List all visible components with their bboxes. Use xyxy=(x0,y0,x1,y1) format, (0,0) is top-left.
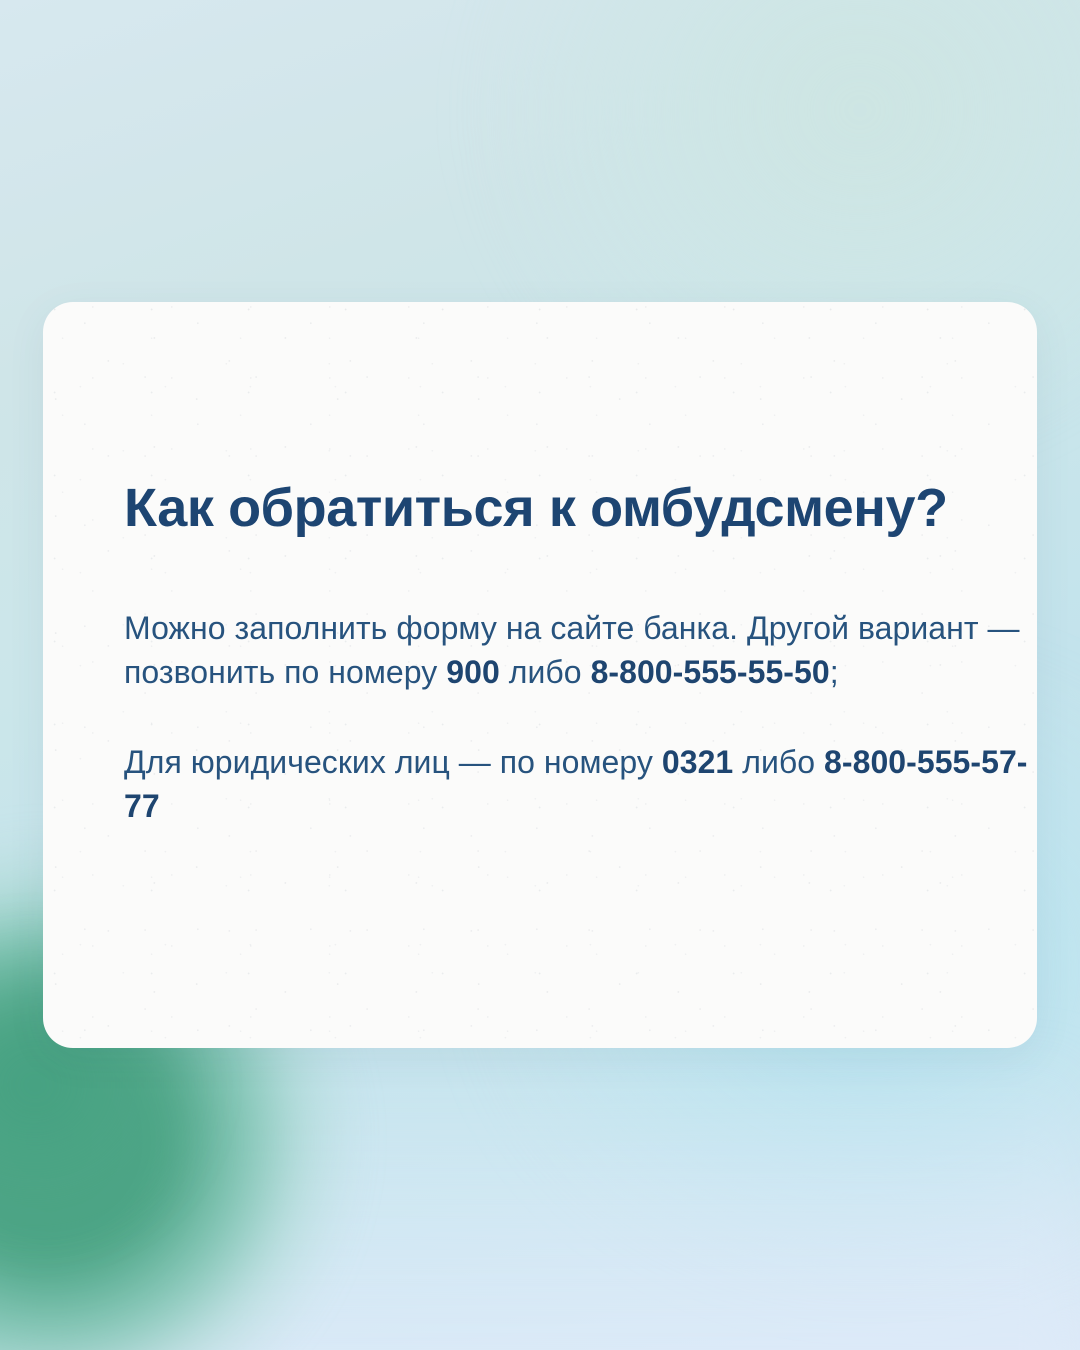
emphasis-text: 900 xyxy=(446,654,500,690)
emphasis-text: 8-800-555-55-50 xyxy=(591,654,830,690)
paragraph-legal-entities: Для юридических лиц — по номеру 0321 либ… xyxy=(124,740,1037,828)
body-text-block: Можно заполнить форму на сайте банка. Др… xyxy=(124,606,1037,828)
plain-text: либо xyxy=(500,654,591,690)
plain-text: либо xyxy=(733,744,824,780)
plain-text: ; xyxy=(830,654,839,690)
emphasis-text: 0321 xyxy=(662,744,733,780)
poster-canvas: Как обратиться к омбудсмену? Можно запол… xyxy=(0,0,1080,1350)
card-content: Как обратиться к омбудсмену? Можно запол… xyxy=(43,302,1037,828)
paragraph-individuals: Можно заполнить форму на сайте банка. Др… xyxy=(124,606,1037,694)
plain-text: Для юридических лиц — по номеру xyxy=(124,744,662,780)
page-title: Как обратиться к омбудсмену? xyxy=(124,480,1037,537)
content-card: Как обратиться к омбудсмену? Можно запол… xyxy=(43,302,1037,1048)
